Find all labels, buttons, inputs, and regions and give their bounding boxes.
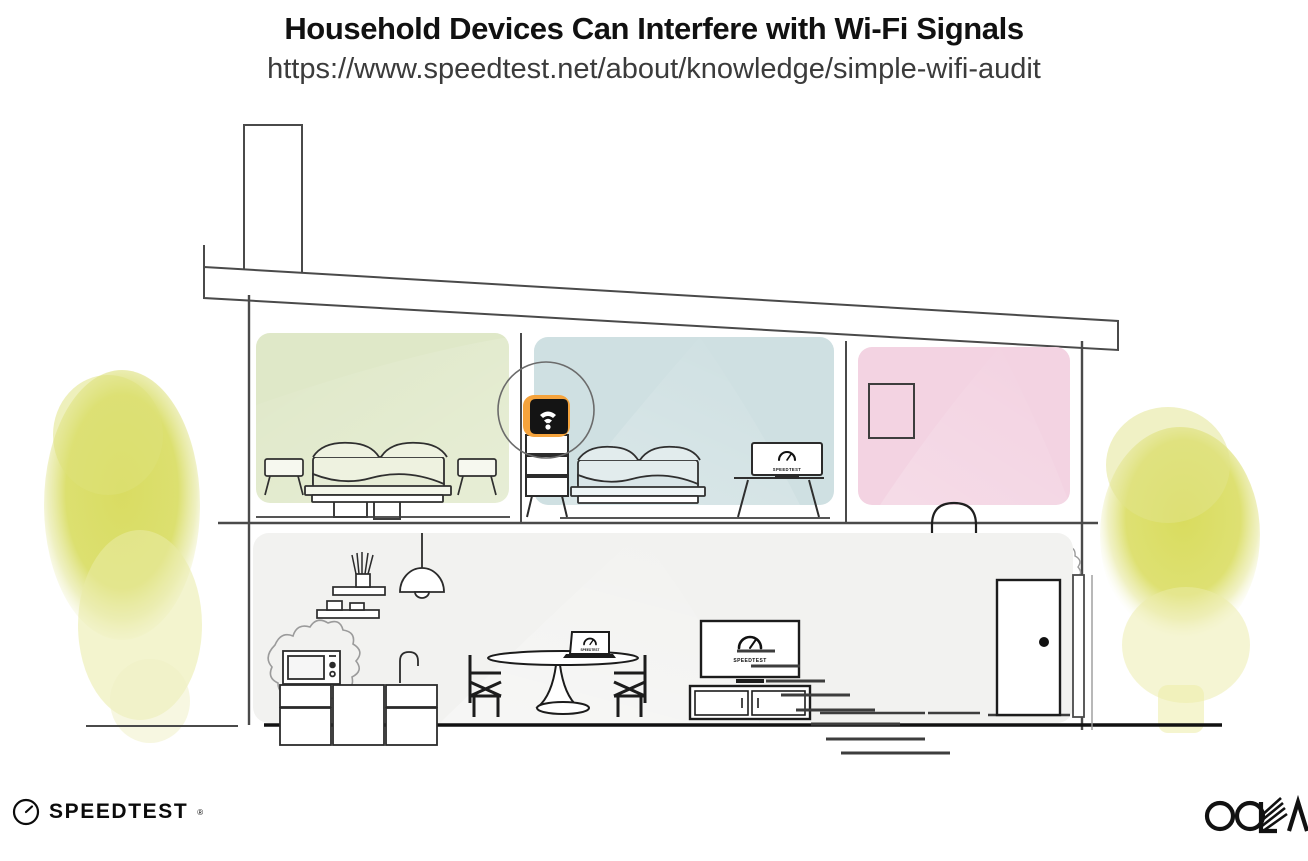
window: [1073, 575, 1084, 717]
tv-screen-label: SPEEDTEST: [733, 658, 766, 664]
chimney: [244, 125, 302, 275]
ookla-logo[interactable]: [1203, 793, 1308, 839]
room-ground-floor: SPEEDTEST: [253, 533, 1073, 753]
speedtest-wordmark: SPEEDTEST: [49, 800, 188, 824]
house-illustration: SPEEDTEST: [0, 105, 1308, 755]
microwave[interactable]: [283, 651, 340, 684]
laptop-screen-label: SPEEDTEST: [581, 648, 600, 652]
door-knob: [1039, 637, 1049, 647]
ookla-logo-icon: [1203, 793, 1308, 839]
room-bedroom-blue: SPEEDTEST: [498, 337, 834, 517]
tree-right: [1100, 407, 1260, 733]
infographic-page: Household Devices Can Interfere with Wi-…: [0, 0, 1308, 861]
tree-left: [44, 370, 202, 743]
wifi-router[interactable]: [523, 395, 570, 437]
front-door[interactable]: [997, 580, 1060, 715]
source-url[interactable]: https://www.speedtest.net/about/knowledg…: [0, 53, 1308, 86]
media-console: [690, 686, 810, 719]
kitchen-counter: [280, 685, 437, 745]
speedtest-trademark: ®: [197, 808, 203, 817]
monitor-screen-label: SPEEDTEST: [773, 467, 802, 472]
laptop-speedtest[interactable]: SPEEDTEST: [563, 632, 616, 658]
room-bedroom-green: [256, 333, 509, 519]
monitor-speedtest[interactable]: SPEEDTEST: [752, 443, 822, 479]
speedtest-logo[interactable]: SPEEDTEST ®: [12, 798, 203, 826]
speedometer-gauge-icon: [12, 798, 40, 826]
header: Household Devices Can Interfere with Wi-…: [0, 0, 1308, 86]
page-title: Household Devices Can Interfere with Wi-…: [0, 11, 1308, 47]
